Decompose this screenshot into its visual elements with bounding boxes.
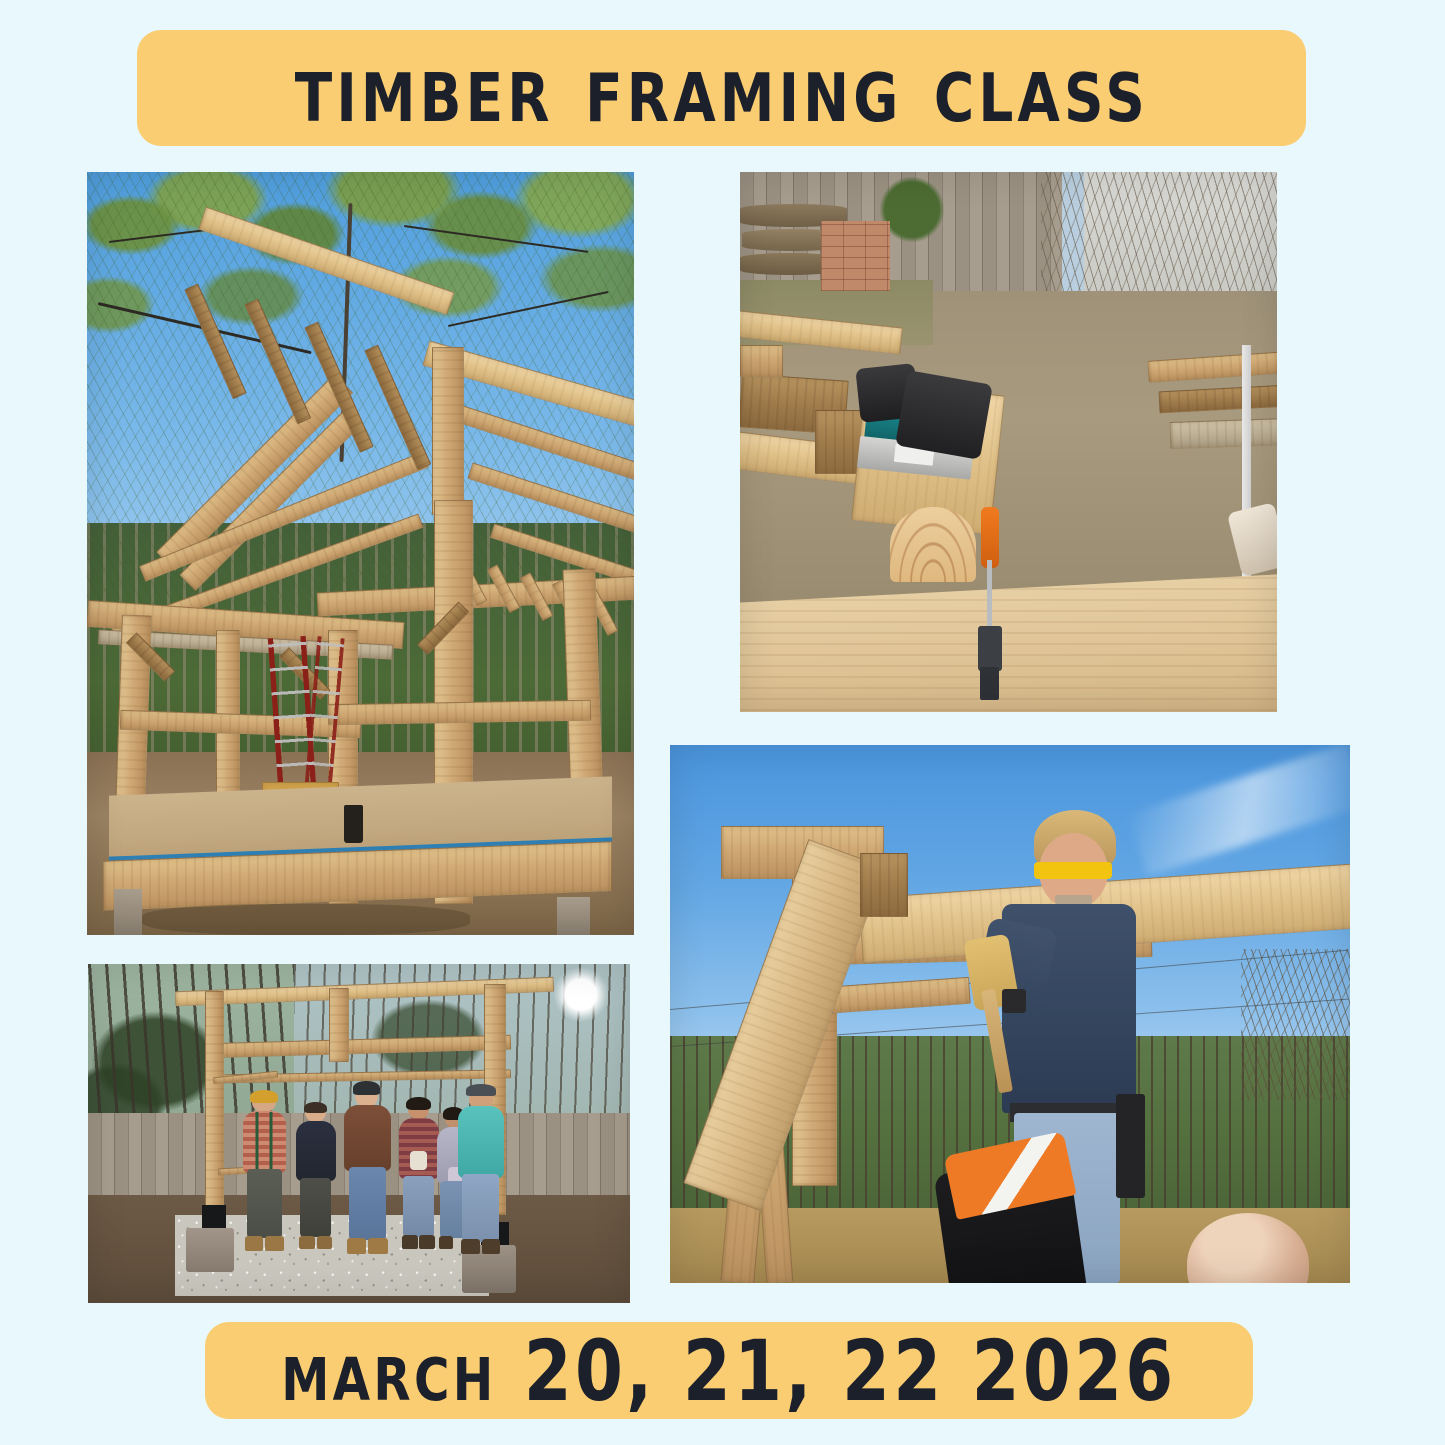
foundation-pier xyxy=(557,897,590,935)
clamp-jaw xyxy=(978,626,1002,671)
photo-raising xyxy=(670,745,1350,1283)
person-hat xyxy=(250,1090,277,1103)
person-jacket xyxy=(344,1105,391,1171)
class-date: March 20, 21, 22 2026 xyxy=(281,1329,1176,1413)
title-banner: Timber Framing Class xyxy=(137,30,1306,146)
person-boot xyxy=(245,1236,264,1251)
photo-planing xyxy=(740,172,1277,712)
person-boot xyxy=(265,1236,284,1251)
page-title: Timber Framing Class xyxy=(294,40,1148,136)
wrist-watch xyxy=(1002,989,1026,1013)
brick-stack xyxy=(821,221,891,291)
person-boot xyxy=(402,1235,418,1249)
person-shirt xyxy=(296,1121,336,1181)
date-banner: March 20, 21, 22 2026 xyxy=(205,1322,1253,1419)
person-jeans xyxy=(462,1174,499,1242)
clamp-foot xyxy=(980,667,1000,700)
group-person-3 xyxy=(343,1083,392,1256)
stone-pier-left xyxy=(186,1228,235,1272)
group-scene xyxy=(88,964,630,1303)
frame-structure-scene xyxy=(87,172,634,935)
planing-scene xyxy=(740,172,1277,712)
tool-holster xyxy=(1116,1094,1145,1198)
person-gloves-held xyxy=(410,1151,427,1169)
bar-clamp xyxy=(971,507,1009,712)
person-hair xyxy=(304,1102,327,1114)
person-boot xyxy=(482,1239,501,1254)
person-boot xyxy=(317,1236,333,1249)
black-bucket xyxy=(344,805,363,843)
sun-flare xyxy=(554,967,608,1021)
person-boot xyxy=(461,1239,480,1254)
photo-group xyxy=(88,964,630,1303)
person-cap xyxy=(466,1084,495,1096)
photo-frame-structure xyxy=(87,172,634,935)
stacked-timber xyxy=(1169,418,1277,449)
person-pants xyxy=(300,1178,331,1238)
person-boot xyxy=(439,1236,453,1249)
clamp-handle xyxy=(981,507,999,569)
person-jeans xyxy=(403,1176,434,1237)
person-mustache xyxy=(1055,895,1092,904)
poster-canvas: Timber Framing Class xyxy=(0,0,1445,1445)
ground-shadow xyxy=(142,904,470,935)
person-boot xyxy=(368,1238,388,1254)
person-hair xyxy=(406,1097,430,1111)
work-glove-right xyxy=(895,370,993,459)
foundation-pier xyxy=(114,889,141,935)
person-boot xyxy=(299,1236,315,1249)
person-beanie xyxy=(353,1081,379,1095)
brace-tenon xyxy=(860,853,908,918)
group-person-1 xyxy=(240,1093,289,1256)
background-brush xyxy=(1241,949,1350,1100)
king-post xyxy=(432,347,465,515)
group-person-4 xyxy=(397,1100,440,1253)
person-hoodie xyxy=(458,1106,505,1177)
raising-scene xyxy=(670,745,1350,1283)
person-jeans xyxy=(349,1167,386,1240)
person-boot xyxy=(419,1235,435,1249)
person-pants xyxy=(247,1169,282,1237)
group-person-6 xyxy=(457,1086,506,1256)
bent-post-left xyxy=(205,991,225,1208)
group-person-2 xyxy=(294,1103,337,1252)
person-flannel xyxy=(399,1118,439,1179)
bent-post-center xyxy=(329,988,349,1063)
person-boot xyxy=(347,1238,367,1254)
person-suspenders xyxy=(251,1112,276,1171)
timber-end-grain xyxy=(890,507,976,583)
workbench-block xyxy=(740,345,783,377)
safety-glasses xyxy=(1034,862,1112,879)
